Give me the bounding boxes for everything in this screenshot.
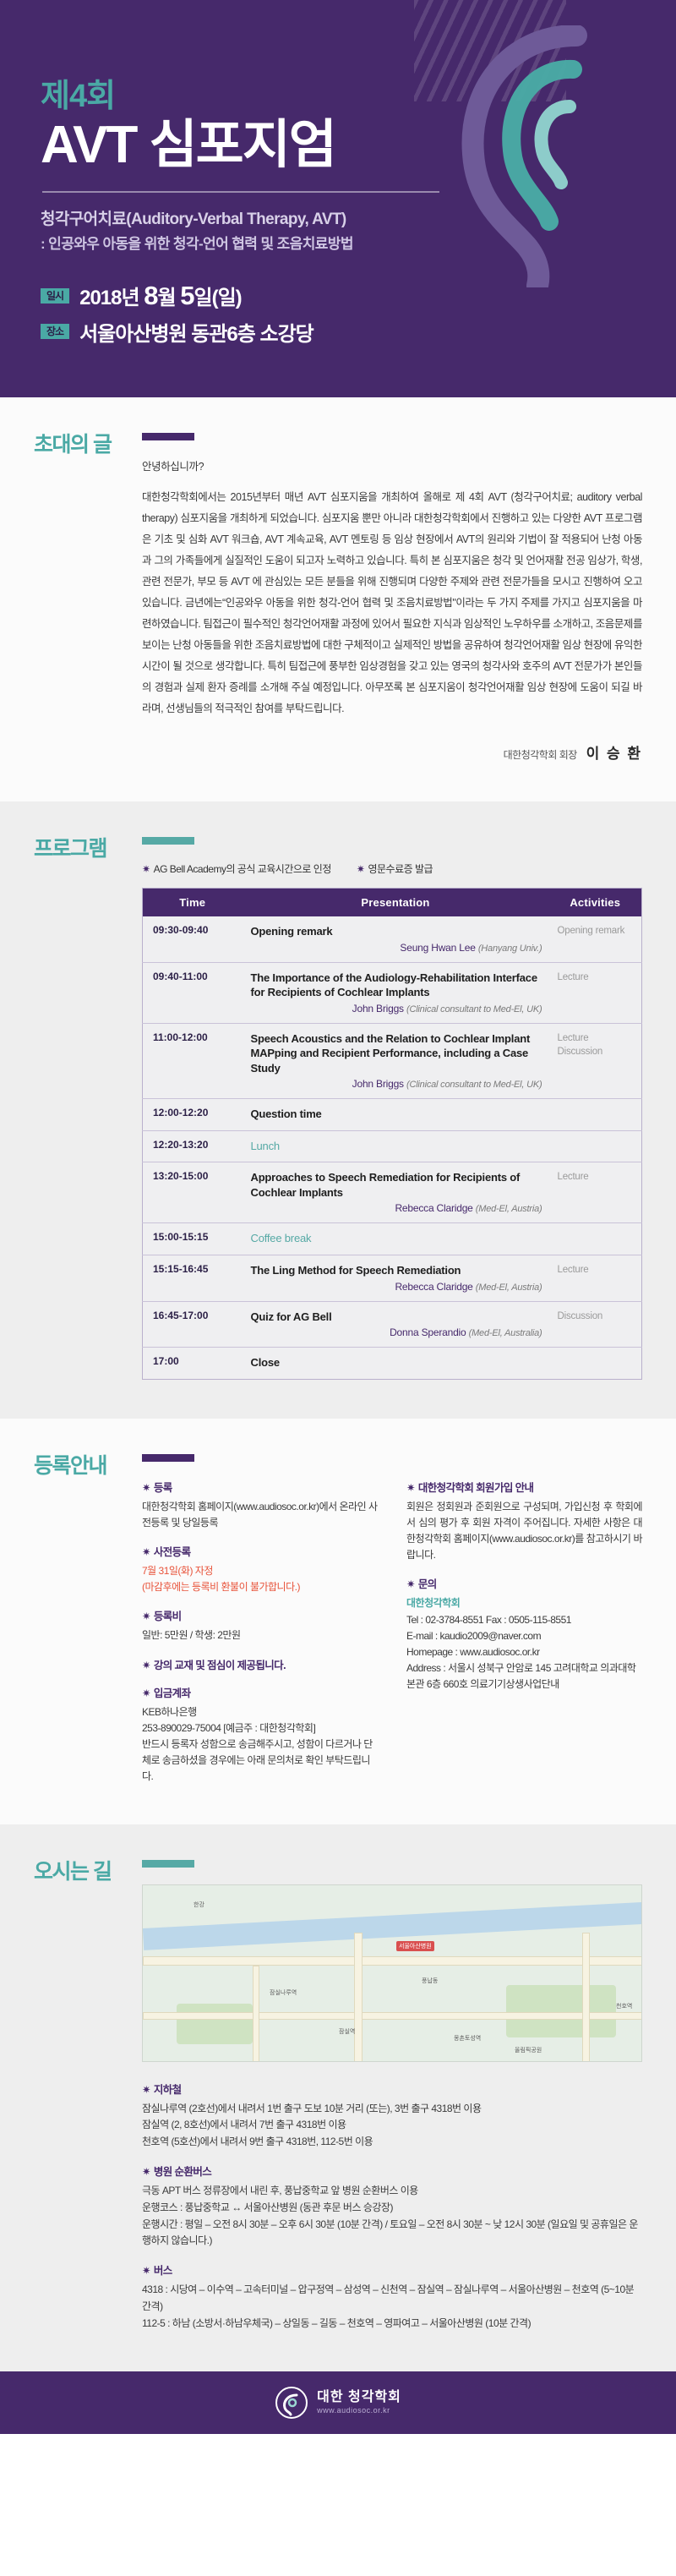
subtitle-secondary: : 인공와우 아동을 위한 청각-언어 협력 및 조음치료방법	[41, 232, 676, 255]
section-dash	[142, 1454, 194, 1462]
society-logo-icon	[275, 2386, 308, 2420]
table-row: 09:40-11:00The Importance of the Audiolo…	[143, 962, 642, 1023]
program-note: ✷AG Bell Academy의 공식 교육시간으로 인정	[142, 861, 331, 876]
table-row: 11:00-12:00Speech Acoustics and the Rela…	[143, 1023, 642, 1099]
registration-heading: ✷대한청각학회 회원가입 안내	[406, 1479, 642, 1495]
cell-presentation: Question time	[243, 1099, 549, 1131]
asterisk-icon: ✷	[142, 863, 150, 875]
cell-presentation: Lunch	[243, 1130, 549, 1162]
subtitle-primary: 청각구어치료(Auditory-Verbal Therapy, AVT)	[41, 208, 676, 232]
map-road	[143, 1956, 642, 1966]
directions-heading: ✷지하철	[142, 2081, 642, 2097]
event-meta: 일시 2018년 8월 5일(일) 장소 서울아산병원 동관6층 소강당	[41, 281, 676, 347]
cell-time: 11:00-12:00	[143, 1023, 243, 1099]
asterisk-icon: ✷	[142, 2084, 150, 2096]
program-table: Time Presentation Activities 09:30-09:40…	[142, 888, 642, 1380]
registration-text: 일반: 5만원 / 학생: 2만원	[142, 1627, 378, 1643]
cell-presentation: Approaches to Speech Remediation for Rec…	[243, 1162, 549, 1223]
invitation-title: 초대의 글	[34, 433, 142, 456]
cell-presentation: Coffee break	[243, 1223, 549, 1255]
signature-name: 이 승 환	[586, 746, 642, 762]
registration-text: 회원은 정회원과 준회원으로 구성되며, 가입신청 후 학회에서 심의 평가 후…	[406, 1499, 642, 1564]
directions-text: 천호역 (5호선)에서 내려서 9번 출구 4318번, 112-5번 이용	[142, 2134, 642, 2151]
table-row: 13:20-15:00Approaches to Speech Remediat…	[143, 1162, 642, 1223]
asterisk-icon: ✷	[142, 1482, 150, 1494]
directions-text: 운행시간 : 평일 – 오전 8시 30분 – 오후 6시 30분 (10분 간…	[142, 2217, 642, 2251]
map-road	[253, 1966, 259, 2062]
map-road	[354, 1933, 363, 2062]
cell-activity: Lecture	[549, 1255, 642, 1302]
invitation-body: 대한청각학회에서는 2015년부터 매년 AVT 심포지움을 개최하여 올해로 …	[142, 487, 642, 719]
section-dash	[142, 1860, 194, 1868]
asterisk-icon: ✷	[142, 1611, 150, 1622]
table-header-row: Time Presentation Activities	[143, 889, 642, 917]
registration-heading: ✷사전등록	[142, 1543, 378, 1559]
presentation-title: Approaches to Speech Remediation for Rec…	[251, 1170, 542, 1200]
registration-text: Address : 서울시 성북구 안암로 145 고려대학교 의과대학본관 6…	[406, 1660, 642, 1693]
registration-text: 7월 31일(화) 자정	[142, 1563, 378, 1579]
cell-activity	[549, 1223, 642, 1255]
invitation-signature: 대한청각학회 회장 이 승 환	[142, 741, 642, 763]
directions-text: 잠실역 (2, 8호선)에서 내려서 7번 출구 4318번 이용	[142, 2117, 642, 2134]
cell-time: 09:40-11:00	[143, 962, 243, 1023]
map-park-area	[506, 1985, 616, 2037]
directions-title: 오시는 길	[34, 1860, 142, 1883]
registration-heading: ✷입금계좌	[142, 1684, 378, 1700]
directions-heading: ✷병원 순환버스	[142, 2163, 642, 2179]
speaker-affiliation: (Clinical consultant to Med-El, UK)	[406, 1080, 542, 1090]
map-park-area	[177, 2004, 253, 2044]
cell-activity: Lecture	[549, 1162, 642, 1223]
edition-kicker: 제4회	[41, 80, 676, 112]
presentation-title: Speech Acoustics and the Relation to Coc…	[251, 1031, 542, 1076]
directions-text: 112-5 : 하남 (소방서·하남우체국) – 상일동 – 길동 – 천호역 …	[142, 2316, 642, 2333]
event-date-row: 일시 2018년 8월 5일(일)	[41, 281, 676, 311]
cell-activity: LectureDiscussion	[549, 1023, 642, 1099]
cell-presentation: The Ling Method for Speech RemediationRe…	[243, 1255, 549, 1302]
presentation-speaker: John Briggs (Clinical consultant to Med-…	[251, 1003, 542, 1015]
date-value: 2018년 8월 5일(일)	[79, 281, 242, 311]
registration-heading: ✷문의	[406, 1575, 642, 1591]
program-title: 프로그램	[34, 837, 142, 860]
cell-time: 12:00-12:20	[143, 1099, 243, 1131]
speaker-affiliation: (Med-El, Austria)	[476, 1204, 542, 1214]
speaker-affiliation: (Med-El, Australia)	[469, 1328, 542, 1338]
title-divider	[42, 191, 439, 193]
directions-text: 4318 : 시당여 – 이수역 – 고속터미널 – 압구정역 – 삼성역 – …	[142, 2282, 642, 2316]
cell-time: 12:20-13:20	[143, 1130, 243, 1162]
map-road	[582, 1933, 590, 2062]
asterisk-icon: ✷	[142, 2265, 150, 2277]
speaker-affiliation: (Hanyang Univ.)	[478, 943, 542, 954]
cell-presentation: Close	[243, 1348, 549, 1380]
registration-text: Tel : 02-3784-8551 Fax : 0505-115-8551	[406, 1612, 642, 1628]
cell-activity: Discussion	[549, 1301, 642, 1348]
map-label: 잠실나루역	[270, 1988, 297, 1997]
cell-presentation: Speech Acoustics and the Relation to Coc…	[243, 1023, 549, 1099]
presentation-speaker: Rebecca Claridge (Med-El, Austria)	[251, 1202, 542, 1214]
table-row: 17:00Close	[143, 1348, 642, 1380]
directions-heading: ✷버스	[142, 2262, 642, 2278]
presentation-title: Close	[251, 1355, 542, 1370]
map-label: 한강	[194, 1901, 204, 1909]
presentation-title: The Importance of the Audiology-Rehabili…	[251, 971, 542, 1000]
map-pin-hospital: 서울아산병원	[396, 1941, 434, 1951]
registration-heading: ✷등록	[142, 1479, 378, 1495]
cell-time: 15:00-15:15	[143, 1223, 243, 1255]
cell-activity	[549, 1348, 642, 1380]
cell-presentation: Opening remarkSeung Hwan Lee (Hanyang Un…	[243, 916, 549, 962]
registration-text: 253-890029-75004 [예금주 : 대한청각학회]	[142, 1720, 378, 1736]
directions-text: 운행코스 : 풍납중학교 ↔ 서울아산병원 (동관 후문 버스 승강장)	[142, 2200, 642, 2217]
date-tag: 일시	[41, 288, 69, 304]
table-row: 15:15-16:45The Ling Method for Speech Re…	[143, 1255, 642, 1302]
registration-title: 등록안내	[34, 1454, 142, 1477]
speaker-affiliation: (Med-El, Austria)	[476, 1283, 542, 1293]
section-dash	[142, 433, 194, 440]
cell-time: 09:30-09:40	[143, 916, 243, 962]
table-row: 12:20-13:20Lunch	[143, 1130, 642, 1162]
asterisk-icon: ✷	[142, 1546, 150, 1558]
directions-groups: ✷지하철잠실나루역 (2호선)에서 내려서 1번 출구 도보 10분 거리 (또…	[142, 2081, 642, 2333]
page-title: AVT 심포지엄	[41, 118, 676, 172]
cell-activity	[549, 1130, 642, 1162]
cell-time: 16:45-17:00	[143, 1301, 243, 1348]
table-row: 12:00-12:20Question time	[143, 1099, 642, 1131]
cell-time: 13:20-15:00	[143, 1162, 243, 1223]
map-road	[143, 2012, 642, 2020]
footer-url: www.audiosoc.or.kr	[317, 2406, 401, 2415]
presentation-title: The Ling Method for Speech Remediation	[251, 1263, 542, 1278]
page-footer: 대한 청각학회 www.audiosoc.or.kr	[0, 2371, 676, 2434]
asterisk-icon: ✷	[142, 1660, 150, 1671]
cell-presentation: The Importance of the Audiology-Rehabili…	[243, 962, 549, 1023]
map-label: 올림픽공원	[515, 2046, 542, 2054]
presentation-speaker: John Briggs (Clinical consultant to Med-…	[251, 1078, 542, 1090]
invitation-greeting: 안녕하십니까?	[142, 457, 642, 473]
invitation-section: 초대의 글 안녕하십니까? 대한청각학회에서는 2015년부터 매년 AVT 심…	[0, 397, 676, 801]
registration-heading: ✷등록비	[142, 1607, 378, 1623]
map-label: 풍납동	[422, 1977, 438, 1985]
location-map[interactable]: 서울아산병원 잠실역 잠실나루역 천호역 올림픽공원 한강 강동대교 풍납동 몽…	[142, 1884, 642, 2062]
asterisk-icon: ✷	[406, 1578, 415, 1590]
registration-text: KEB하나은행	[142, 1704, 378, 1720]
registration-right-column: ✷대한청각학회 회원가입 안내회원은 정회원과 준회원으로 구성되며, 가입신청…	[406, 1479, 642, 1786]
table-row: 16:45-17:00Quiz for AG BellDonna Sperand…	[143, 1301, 642, 1348]
place-tag: 장소	[41, 324, 69, 339]
registration-text: E-mail : kaudio2009@naver.com	[406, 1628, 642, 1644]
column-activities: Activities	[549, 889, 642, 917]
registration-heading: ✷강의 교재 및 점심이 제공됩니다.	[142, 1656, 378, 1672]
asterisk-icon: ✷	[142, 1687, 150, 1699]
footer-org-name: 대한 청각학회	[317, 2390, 401, 2405]
map-label: 잠실역	[339, 2027, 355, 2036]
program-note: ✷영문수료증 발급	[357, 861, 433, 876]
registration-text: 대한청각학회 홈페이지(www.audiosoc.or.kr)에서 온라인 사전…	[142, 1499, 378, 1531]
registration-text: Homepage : www.audiosoc.or.kr	[406, 1644, 642, 1660]
presentation-speaker: Donna Sperandio (Med-El, Australia)	[251, 1326, 542, 1338]
table-row: 15:00-15:15Coffee break	[143, 1223, 642, 1255]
registration-text: (마감후에는 등록비 환불이 불가합니다.)	[142, 1579, 378, 1595]
map-river	[143, 1893, 642, 1950]
speaker-affiliation: (Clinical consultant to Med-El, UK)	[406, 1004, 542, 1015]
presentation-title: Question time	[251, 1107, 542, 1122]
presentation-speaker: Seung Hwan Lee (Hanyang Univ.)	[251, 942, 542, 954]
presentation-speaker: Rebecca Claridge (Med-El, Austria)	[251, 1281, 542, 1293]
registration-left-column: ✷등록대한청각학회 홈페이지(www.audiosoc.or.kr)에서 온라인…	[142, 1479, 378, 1786]
cell-activity: Lecture	[549, 962, 642, 1023]
program-notes: ✷AG Bell Academy의 공식 교육시간으로 인정✷영문수료증 발급	[142, 861, 642, 876]
asterisk-icon: ✷	[142, 2166, 150, 2178]
asterisk-icon: ✷	[357, 863, 365, 875]
column-presentation: Presentation	[243, 889, 549, 917]
event-place-row: 장소 서울아산병원 동관6층 소강당	[41, 317, 676, 347]
registration-section: 등록안내 ✷등록대한청각학회 홈페이지(www.audiosoc.or.kr)에…	[0, 1419, 676, 1824]
cell-activity	[549, 1099, 642, 1131]
table-row: 09:30-09:40Opening remarkSeung Hwan Lee …	[143, 916, 642, 962]
cell-time: 15:15-16:45	[143, 1255, 243, 1302]
program-section: 프로그램 ✷AG Bell Academy의 공식 교육시간으로 인정✷영문수료…	[0, 801, 676, 1419]
registration-text: 대한청각학회	[406, 1595, 642, 1611]
presentation-title: Lunch	[251, 1139, 542, 1154]
place-value: 서울아산병원 동관6층 소강당	[79, 317, 313, 347]
column-time: Time	[143, 889, 243, 917]
registration-text: 반드시 등록자 성함으로 송금해주시고, 성함이 다르거나 단체로 송금하셨을 …	[142, 1736, 378, 1786]
presentation-title: Quiz for AG Bell	[251, 1310, 542, 1325]
cell-presentation: Quiz for AG BellDonna Sperandio (Med-El,…	[243, 1301, 549, 1348]
cell-activity: Opening remark	[549, 916, 642, 962]
asterisk-icon: ✷	[406, 1482, 415, 1494]
presentation-title: Opening remark	[251, 924, 542, 939]
hero-banner: 제4회 AVT 심포지엄 청각구어치료(Auditory-Verbal Ther…	[0, 0, 676, 397]
map-label: 몽촌토성역	[454, 2034, 481, 2043]
cell-time: 17:00	[143, 1348, 243, 1380]
map-label: 천호역	[616, 2002, 632, 2010]
directions-section: 오시는 길 서울아산병원 잠실역 잠실나루역 천호역 올림픽공원 한강 강동대교…	[0, 1824, 676, 2371]
directions-text: 극동 APT 버스 정류장에서 내린 후, 풍납중학교 앞 병원 순환버스 이용	[142, 2183, 642, 2200]
presentation-title: Coffee break	[251, 1231, 542, 1246]
directions-text: 잠실나루역 (2호선)에서 내려서 1번 출구 도보 10분 거리 (또는), …	[142, 2101, 642, 2118]
signature-org: 대한청각학회 회장	[504, 749, 577, 761]
section-dash	[142, 837, 194, 845]
